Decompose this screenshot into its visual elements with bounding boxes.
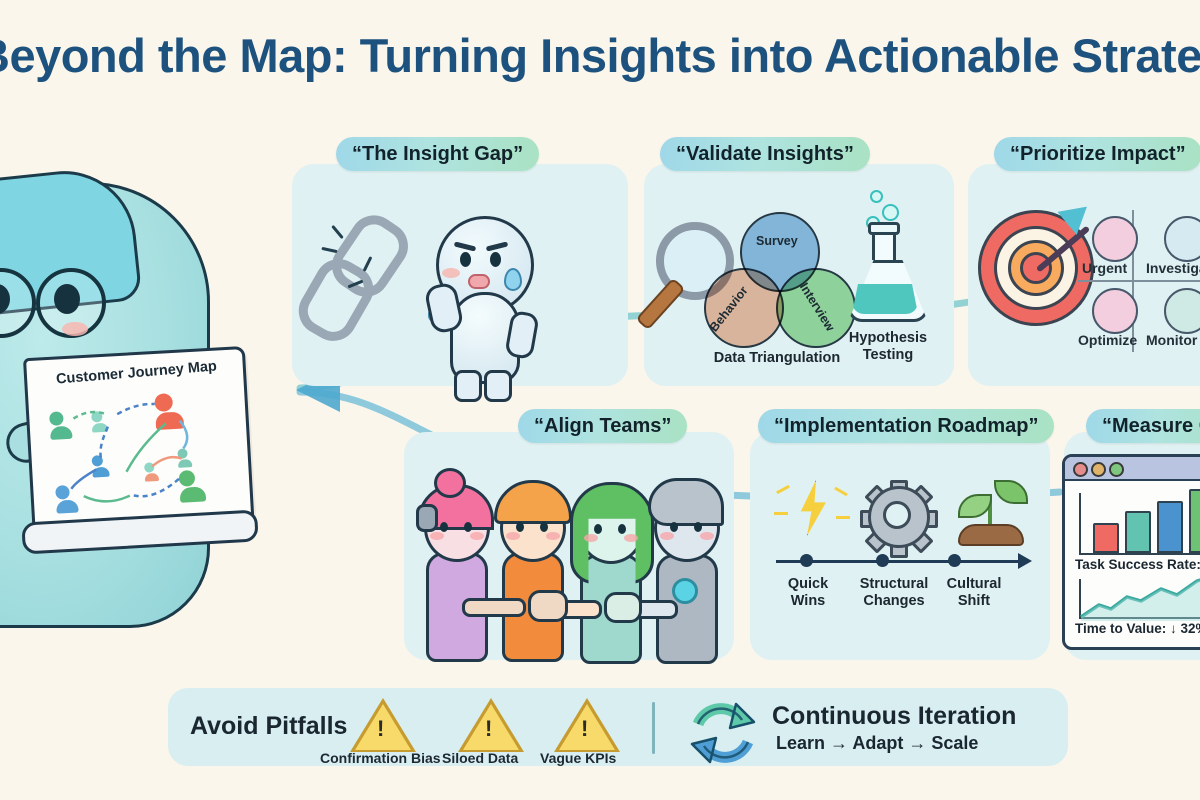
matrix-label-investigate: Investigate [1146,260,1200,276]
lightning-icon [794,480,832,536]
page-title: Beyond the Map: Turning Insights into Ac… [0,28,1200,83]
matrix-label-optimize: Optimize [1078,332,1137,348]
panel-label-insight-gap[interactable]: “The Insight Gap” [336,137,539,171]
panel-label-align-teams[interactable]: “Align Teams” [518,409,687,443]
roadmap-step-structural-changes: Structural Changes [844,576,944,609]
roadmap-arrowhead [1018,553,1032,569]
panel-label-prioritize-impact[interactable]: “Prioritize Impact” [994,137,1200,171]
continuous-iteration-title: Continuous Iteration [772,702,1016,731]
pitfall-label-3: Vague KPIs [540,750,616,766]
mascot-cheek-right [62,322,88,336]
matrix-label-urgent: Urgent [1082,260,1127,276]
avoid-pitfalls-title: Avoid Pitfalls [190,712,347,741]
panel-insight-gap[interactable] [292,164,628,386]
metric-task-success-rate: Task Success Rate: 87% [1075,557,1200,572]
metric-time-to-value: Time to Value: ↓ 32% [1075,621,1200,636]
window-dot-red [1073,462,1088,477]
window-dot-yellow [1091,462,1106,477]
footer-bar: Avoid Pitfalls ! Confirmation Bias ! Sil… [168,688,1068,766]
panel-align-teams[interactable] [404,432,734,660]
panel-label-validate-insights[interactable]: “Validate Insights” [660,137,870,171]
footer-divider [652,702,655,754]
roadmap-dot-3 [948,554,961,567]
roadmap-dot-1 [800,554,813,567]
panel-prioritize-impact[interactable]: Urgent Investigate Optimize Monitor [968,164,1200,386]
roadmap-axis [776,560,1024,563]
venn-label-survey: Survey [756,234,798,248]
dashboard-window-icon: Task Success Rate: 87% Time to Value: ↓ … [1062,454,1200,650]
mascot-eye-right [54,284,80,314]
matrix-label-monitor: Monitor [1146,332,1197,348]
pitfall-label-2: Siloed Data [442,750,518,766]
caption-hypothesis-testing: Hypothesis Testing [840,330,936,363]
roadmap-step-cultural-shift: Cultural Shift [934,576,1014,609]
panel-measure-change[interactable]: Task Success Rate: 87% Time to Value: ↓ … [1064,432,1200,660]
panel-label-implementation-roadmap[interactable]: “Implementation Roadmap” [758,409,1054,443]
roadmap-dot-2 [876,554,889,567]
infographic-canvas: Beyond the Map: Turning Insights into Ac… [0,0,1200,800]
roadmap-step-quick-wins: Quick Wins [768,576,848,609]
iteration-steps: Learn → Adapt → Scale [776,733,978,754]
window-dot-green [1109,462,1124,477]
refresh-cycle-icon [684,694,762,772]
caption-data-triangulation: Data Triangulation [692,350,862,367]
pitfall-label-1: Confirmation Bias [320,750,441,766]
panel-label-measure-change[interactable]: “Measure Ch [1086,409,1200,443]
panel-validate-insights[interactable]: Survey Behavior Interview Data Triangula… [644,164,954,386]
panel-implementation-roadmap[interactable]: Quick Wins Structural Changes Cultural S… [750,432,1050,660]
